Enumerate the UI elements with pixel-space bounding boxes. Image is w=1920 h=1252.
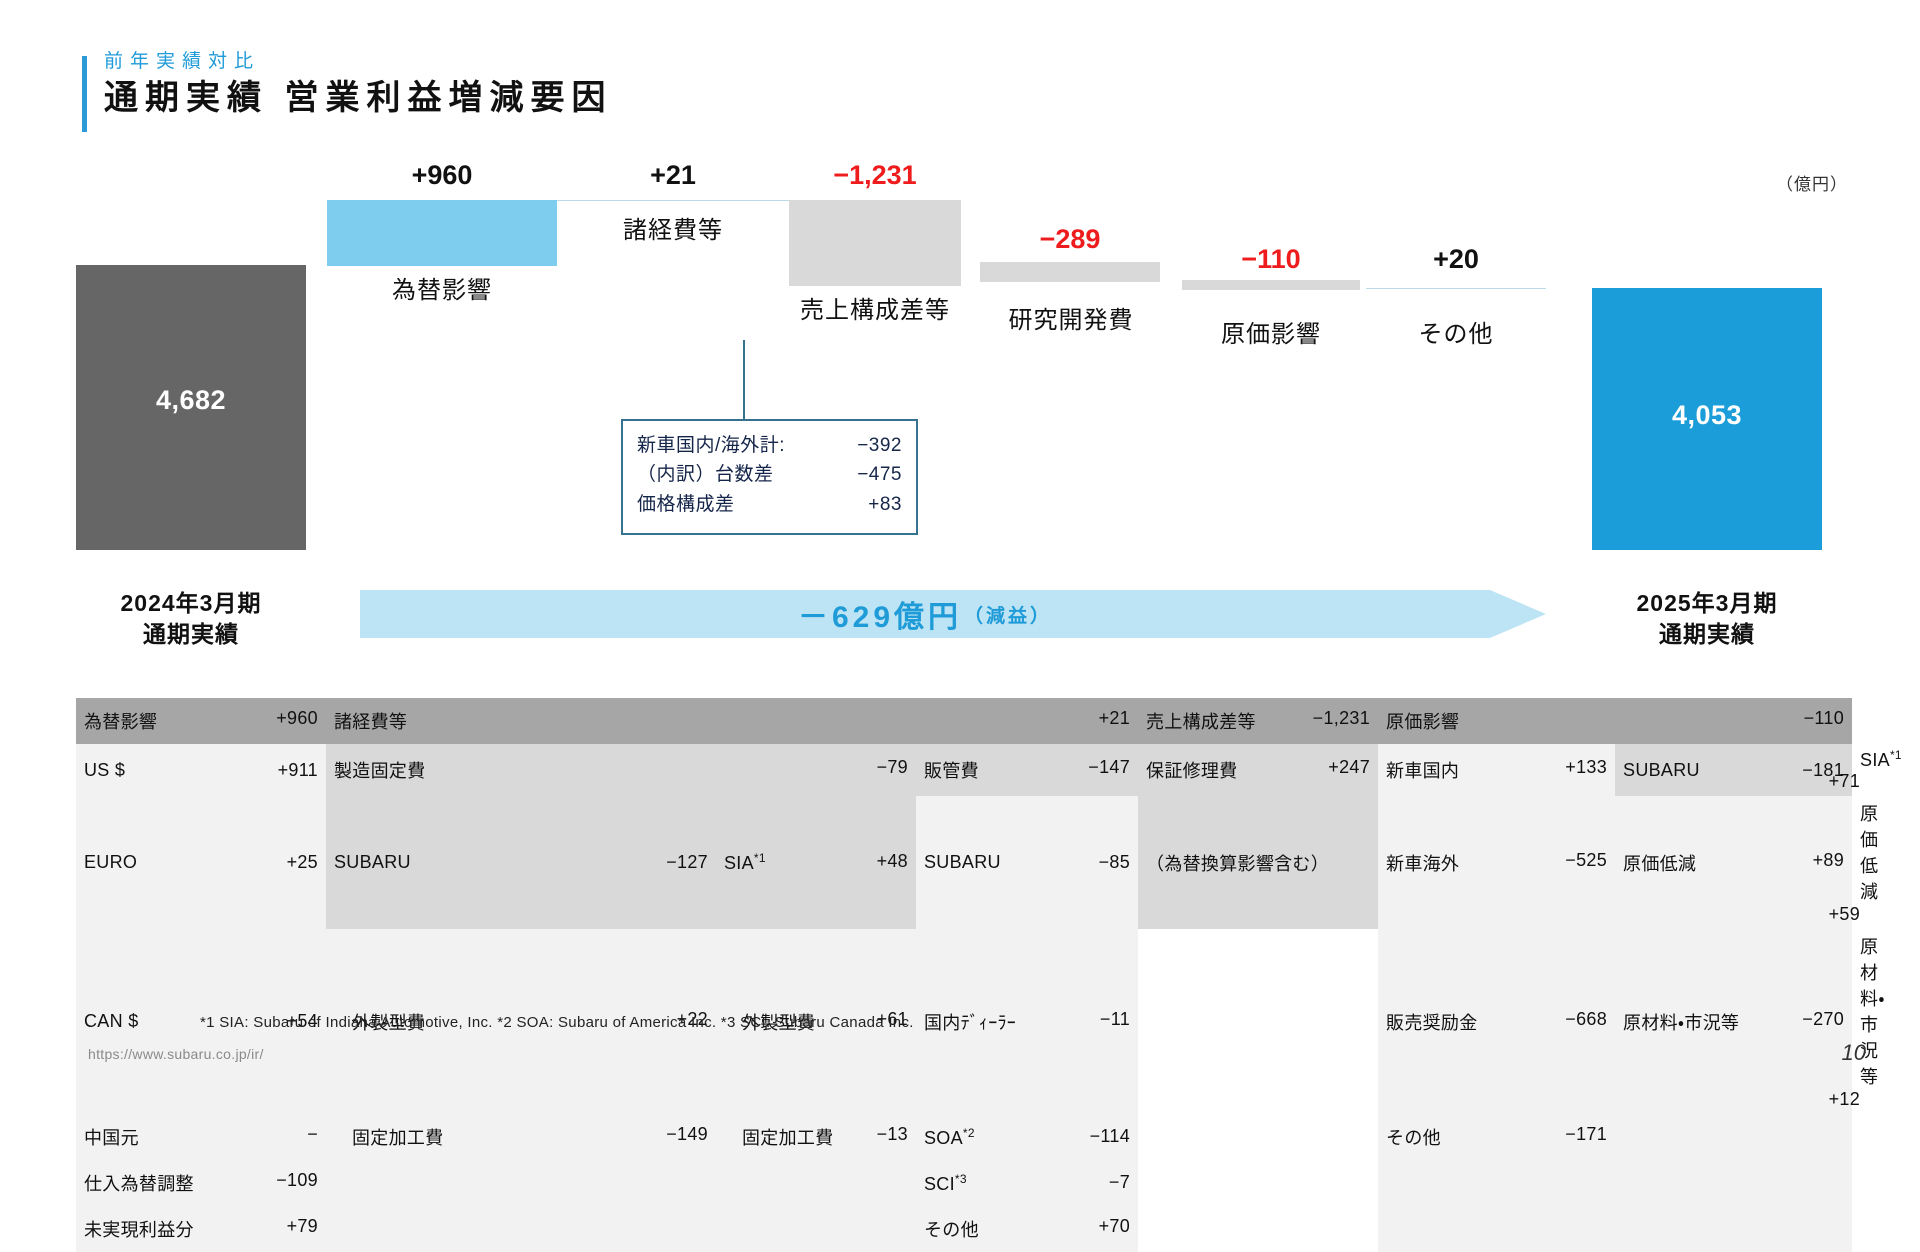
cell-value: +133 <box>1565 757 1607 778</box>
total-change-value: －629億円 <box>798 592 962 636</box>
table-header-genka: 原価影響 −110 <box>1378 698 1852 744</box>
waterfall-caption-sonota: その他 <box>1366 314 1546 349</box>
header-value: +960 <box>276 708 318 729</box>
cell-uriage-4: その他 −171 <box>1378 1114 1615 1160</box>
table-header-uriage: 売上構成差等 −1,231 <box>1138 698 1378 744</box>
cell-hankanhi-title: 販管費 −147 <box>916 744 1138 796</box>
cell-value: +12 <box>1829 1089 1860 1110</box>
cell-genka-empty-1 <box>1615 1160 1852 1206</box>
period-end-line1: 2025年3月期 <box>1592 588 1822 619</box>
cell-value: +59 <box>1829 904 1860 925</box>
cell-label: 原価低減 <box>1623 850 1696 876</box>
cell-hoshou-empty <box>1138 1206 1378 1252</box>
cell-kawase-6: 未実現利益分 +79 <box>76 1206 326 1252</box>
callout-row: 新車国内/海外計: −392 <box>637 431 902 460</box>
cell-seizou-sia: SIA*1 +48 <box>716 796 916 929</box>
cell-kotei-kakou-1: 固定加工費 −149 <box>326 1114 716 1160</box>
header-label: 原価影響 <box>1386 708 1459 734</box>
cell-uriage-1: 新車国内 +133 <box>1378 744 1615 796</box>
cell-value: −270 <box>1802 1009 1844 1030</box>
cell-label: SUBARU <box>1623 760 1700 781</box>
cell-value: −147 <box>1088 757 1130 778</box>
cell-value: −149 <box>666 1124 708 1145</box>
arrow-head-icon <box>1490 590 1546 638</box>
header-label: 売上構成差等 <box>1146 708 1256 734</box>
footnote-marker: *1 <box>1890 748 1902 762</box>
table-header-row: 為替影響 +960 諸経費等 +21 売上構成差等 −1,231 原価影響 −1… <box>76 698 1852 744</box>
period-start-line1: 2024年3月期 <box>76 588 306 619</box>
cell-label: SIA*1 <box>724 851 766 874</box>
cell-label: EURO <box>84 852 137 873</box>
title-accent-bar <box>82 56 87 132</box>
header-value: −1,231 <box>1313 708 1370 729</box>
cell-value: −79 <box>877 757 908 778</box>
period-end-line2: 通期実績 <box>1592 619 1822 650</box>
cell-uriage-empty <box>1378 1206 1615 1252</box>
cell-label: US $ <box>84 760 125 781</box>
callout-value: −475 <box>843 460 902 489</box>
waterfall-caption-genka: 原価影響 <box>1182 314 1360 349</box>
cell-label: 原材料・市況等 <box>1623 1009 1739 1035</box>
cell-hankanhi-subaru: SUBARU −85 <box>916 796 1138 929</box>
callout-label: 新車国内/海外計: <box>637 431 785 460</box>
cell-label: 未実現利益分 <box>84 1216 194 1242</box>
cell-label: 固定加工費 <box>352 1124 444 1150</box>
cell-seizou-subaru: SUBARU −127 <box>326 796 716 929</box>
waterfall-bar-genka <box>1182 280 1360 290</box>
cell-label: 仕入為替調整 <box>84 1170 194 1196</box>
waterfall-value-kawase: +960 <box>327 160 557 191</box>
cell-value: −13 <box>877 1124 908 1145</box>
waterfall-bar-kenkyu <box>980 262 1160 282</box>
cell-label: 販管費 <box>924 757 979 783</box>
header-label: 為替影響 <box>84 708 157 734</box>
cell-hoshou-empty <box>1138 1114 1378 1160</box>
callout-value: +83 <box>854 490 902 519</box>
cell-value: −109 <box>276 1170 318 1191</box>
cell-value: +247 <box>1328 757 1370 778</box>
page-title: 前年実績対比 通期実績 営業利益増減要因 <box>82 52 612 118</box>
cell-hankanhi-sci: SCI*3 −7 <box>916 1160 1138 1206</box>
cell-value: +25 <box>287 852 318 873</box>
cell-label: その他 <box>1386 1124 1441 1150</box>
cell-label: 新車国内 <box>1386 757 1459 783</box>
waterfall-value-shokeihi: +21 <box>557 160 789 191</box>
page-main-title: 通期実績 営業利益増減要因 <box>104 79 612 118</box>
waterfall-bar-uriage <box>789 200 961 286</box>
cell-hankanhi-soa: SOA*2 −114 <box>916 1114 1138 1160</box>
callout-row: 価格構成差 +83 <box>637 490 902 519</box>
cell-genka-empty-1 <box>1615 1114 1852 1160</box>
cell-hoshou-empty <box>1138 929 1378 1114</box>
header-value: −110 <box>1804 708 1844 729</box>
cell-value: −171 <box>1565 1124 1607 1145</box>
callout-value: −392 <box>843 431 902 460</box>
cell-genka-teigen-1: 原価低減 +89 <box>1615 796 1852 929</box>
cell-label: 固定加工費 <box>742 1124 834 1150</box>
period-start-line2: 通期実績 <box>76 619 306 650</box>
callout-leader-vertical <box>743 340 745 420</box>
waterfall-bar-sonota <box>1366 288 1546 289</box>
cell-kawase-5: 仕入為替調整 −109 <box>76 1160 326 1206</box>
cell-label: 販売奨励金 <box>1386 1009 1478 1035</box>
cell-value: −668 <box>1565 1009 1607 1030</box>
waterfall-caption-kenkyu: 研究開発費 <box>965 300 1177 335</box>
total-change-text: －629億円（減益） <box>360 590 1490 638</box>
cell-genka-empty-1 <box>1615 1206 1852 1252</box>
cell-hoshou-title: 保証修理費 +247 <box>1138 744 1378 796</box>
callout-label: （内訳）台数差 <box>637 460 774 489</box>
cell-label: SUBARU <box>924 852 1001 873</box>
cell-value: +89 <box>1813 850 1844 871</box>
waterfall-value-uriage: −1,231 <box>789 160 961 191</box>
waterfall-bar-kawase <box>327 200 557 266</box>
waterfall-bar-shokeihi <box>557 200 789 201</box>
cell-empty <box>716 1206 916 1252</box>
table-row: 未実現利益分 +79 その他 +70 <box>76 1206 1852 1252</box>
cell-hoshou-note: （為替換算影響含む） <box>1138 796 1378 929</box>
cell-value: −7 <box>1109 1172 1130 1193</box>
callout-row: （内訳）台数差 −475 <box>637 460 902 489</box>
cell-label: 保証修理費 <box>1146 757 1238 783</box>
cell-genzairyo-1: 原材料・市況等 −270 <box>1615 929 1852 1114</box>
table-row: US $ +911 製造固定費 −79 販管費 −147 保証修理費 +247 … <box>76 744 1852 796</box>
cell-label: SIA*1 <box>1860 748 1902 771</box>
cell-label: 新車海外 <box>1386 850 1459 876</box>
cell-label: （為替換算影響含む） <box>1146 850 1329 876</box>
waterfall-value-kenkyu: −289 <box>980 224 1160 255</box>
cell-value: +79 <box>287 1216 318 1237</box>
cell-label: SUBARU <box>334 852 411 873</box>
cell-label: その他 <box>924 1216 979 1242</box>
footnote-marker: *2 <box>963 1126 975 1140</box>
cell-empty <box>716 1160 916 1206</box>
cell-hankanhi-sonota: その他 +70 <box>916 1206 1138 1252</box>
cell-kawase-4: 中国元 − <box>76 1114 326 1160</box>
cell-kawase-1: US $ +911 <box>76 744 326 796</box>
waterfall-end-value: 4,053 <box>1592 400 1822 431</box>
cell-genka-subaru: SUBARU −181 <box>1615 744 1852 796</box>
cell-uriage-2: 新車海外 −525 <box>1378 796 1615 929</box>
cell-label: SOA*2 <box>924 1126 975 1149</box>
waterfall-start-value: 4,682 <box>76 385 306 416</box>
footnote-marker: *1 <box>754 851 766 865</box>
cell-empty <box>326 1206 716 1252</box>
cell-value: +71 <box>1829 771 1860 792</box>
cell-value: −85 <box>1099 852 1130 873</box>
cell-label: 製造固定費 <box>334 757 426 783</box>
cell-value: +70 <box>1099 1216 1130 1237</box>
cell-value: − <box>307 1124 318 1145</box>
cell-value: −525 <box>1565 850 1607 871</box>
table-header-kawase: 為替影響 +960 <box>76 698 326 744</box>
page-subtitle: 前年実績対比 <box>104 52 612 73</box>
table-row: EURO +25 SUBARU −127 SIA*1 +48 SUBARU −8… <box>76 796 1852 929</box>
waterfall-caption-shokeihi: 諸経費等 <box>557 210 789 245</box>
cell-value: −127 <box>666 852 708 873</box>
page-number: 10 <box>1842 1040 1866 1066</box>
waterfall-chart: 4,682 +960 為替影響 +21 諸経費等 −1,231 売上構成差等 −… <box>0 200 1920 600</box>
cell-label: CAN $ <box>84 1011 139 1032</box>
period-label-end: 2025年3月期 通期実績 <box>1592 588 1822 650</box>
slide-root: 前年実績対比 通期実績 営業利益増減要因 （億円） 4,682 +960 為替影… <box>0 0 1920 1080</box>
footer-url[interactable]: https://www.subaru.co.jp/ir/ <box>88 1046 264 1062</box>
waterfall-value-genka: −110 <box>1182 244 1360 275</box>
footnote-marker: *3 <box>955 1172 967 1186</box>
callout-label: 価格構成差 <box>637 490 735 519</box>
cell-empty <box>326 1160 716 1206</box>
cell-label: SCI*3 <box>924 1172 967 1195</box>
cell-uriage-empty <box>1378 1160 1615 1206</box>
table-header-shokeihi: 諸経費等 +21 <box>326 698 1138 744</box>
unit-note: （億円） <box>1776 170 1848 195</box>
total-change-arrow: －629億円（減益） <box>360 590 1545 638</box>
table-row: 中国元 − 固定加工費 −149 固定加工費 −13 SOA*2 −114 その… <box>76 1114 1852 1160</box>
cell-value: −11 <box>1100 1009 1130 1030</box>
cell-label: 中国元 <box>84 1124 139 1150</box>
table-row: 仕入為替調整 −109 SCI*3 −7 <box>76 1160 1852 1206</box>
cell-kawase-2: EURO +25 <box>76 796 326 929</box>
cell-kotei-kakou-2: 固定加工費 −13 <box>716 1114 916 1160</box>
period-label-start: 2024年3月期 通期実績 <box>76 588 306 650</box>
cell-seizou-kotei-title: 製造固定費 −79 <box>326 744 916 796</box>
header-value: +21 <box>1099 708 1130 729</box>
waterfall-value-sonota: +20 <box>1366 244 1546 275</box>
footnote-text: *1 SIA: Subaru of Indiana Automotive, In… <box>200 1014 914 1031</box>
cell-hankanhi-dealer: 国内ﾃﾞｨｰﾗｰ −11 <box>916 929 1138 1114</box>
cell-label: 国内ﾃﾞｨｰﾗｰ <box>924 1009 1016 1035</box>
cell-hoshou-empty <box>1138 1160 1378 1206</box>
total-change-suffix: （減益） <box>964 601 1052 628</box>
cell-value: +48 <box>877 851 908 872</box>
cell-label: 原価低減 <box>1860 800 1878 904</box>
detail-table: 為替影響 +960 諸経費等 +21 売上構成差等 −1,231 原価影響 −1… <box>76 698 1852 1252</box>
header-label: 諸経費等 <box>334 708 407 734</box>
waterfall-caption-kawase: 為替影響 <box>327 270 557 305</box>
cell-value: −114 <box>1090 1126 1130 1147</box>
callout-box-uriage-breakdown: 新車国内/海外計: −392 （内訳）台数差 −475 価格構成差 +83 <box>621 419 918 535</box>
cell-value: +911 <box>278 760 318 781</box>
cell-uriage-3: 販売奨励金 −668 <box>1378 929 1615 1114</box>
